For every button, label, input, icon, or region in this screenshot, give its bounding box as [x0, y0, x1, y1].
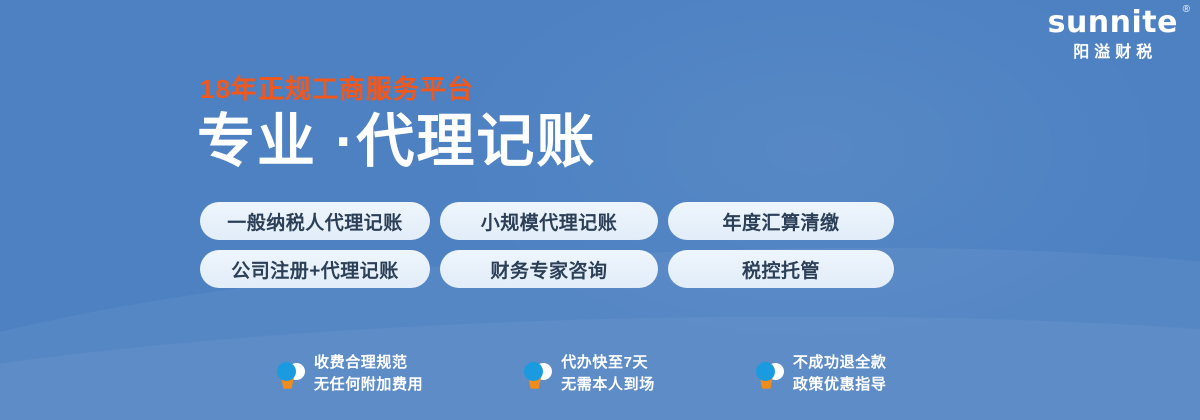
feature-item-pricing: 收费合理规范 无任何附加费用	[276, 352, 423, 396]
brand-logo[interactable]: sunnite ® 阳溢财税	[1048, 8, 1178, 61]
service-pill-row-2: 公司注册+代理记账 财务专家咨询 税控托管	[200, 250, 894, 288]
hero-headline: 专业 ·代理记账	[197, 111, 596, 174]
badge-check-icon	[276, 358, 304, 390]
feature-text-speed: 代办快至7天 无需本人到场	[561, 352, 655, 396]
feature-strip: 收费合理规范 无任何附加费用 代办快至7天 无需本人到场 不成功退全款	[276, 352, 886, 396]
feature-line-2: 无任何附加费用	[314, 376, 423, 393]
feature-line-1: 代办快至7天	[561, 354, 648, 371]
service-pill-row-1: 一般纳税人代理记账 小规模代理记账 年度汇算清缴	[200, 202, 894, 240]
service-pill-tax-control-hosting[interactable]: 税控托管	[668, 250, 894, 288]
promo-banner: sunnite ® 阳溢财税 18年正规工商服务平台 专业 ·代理记账 一般纳税…	[0, 0, 1200, 420]
feature-line-2: 无需本人到场	[561, 376, 655, 393]
registered-trademark-icon: ®	[1183, 5, 1190, 15]
logo-wordmark: sunnite	[1048, 8, 1178, 38]
service-pill-small-scale[interactable]: 小规模代理记账	[440, 202, 658, 240]
feature-text-pricing: 收费合理规范 无任何附加费用	[314, 352, 423, 396]
feature-item-guarantee: 不成功退全款 政策优惠指导	[755, 352, 887, 396]
hero-eyebrow: 18年正规工商服务平台	[200, 76, 474, 102]
badge-check-icon	[523, 358, 551, 390]
feature-item-speed: 代办快至7天 无需本人到场	[523, 352, 655, 396]
feature-line-2: 政策优惠指导	[793, 376, 887, 393]
service-pill-finance-consulting[interactable]: 财务专家咨询	[440, 250, 658, 288]
feature-line-1: 收费合理规范	[314, 354, 408, 371]
service-pill-general-taxpayer[interactable]: 一般纳税人代理记账	[200, 202, 430, 240]
logo-chinese-name: 阳溢财税	[1048, 45, 1178, 61]
feature-line-1: 不成功退全款	[793, 354, 887, 371]
service-pill-group: 一般纳税人代理记账 小规模代理记账 年度汇算清缴 公司注册+代理记账 财务专家咨…	[200, 202, 894, 298]
badge-check-icon	[755, 358, 783, 390]
service-pill-company-registration[interactable]: 公司注册+代理记账	[200, 250, 430, 288]
feature-text-guarantee: 不成功退全款 政策优惠指导	[793, 352, 887, 396]
service-pill-annual-settlement[interactable]: 年度汇算清缴	[668, 202, 894, 240]
